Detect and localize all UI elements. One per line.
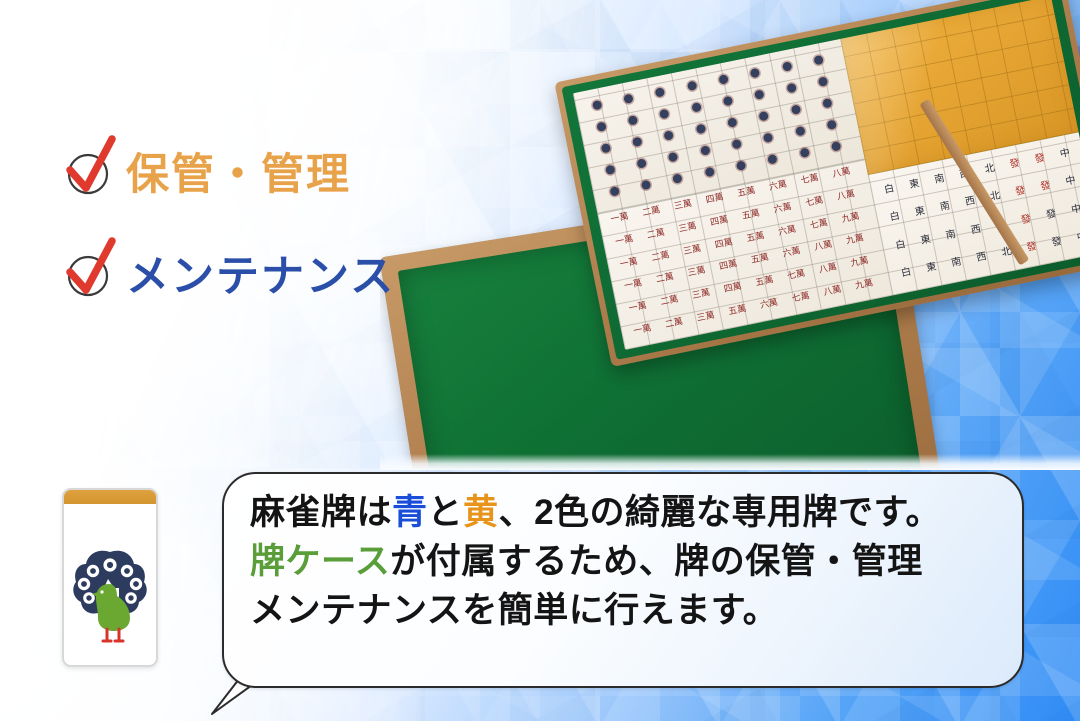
bubble-line-1: 麻雀牌は青と黄、2色の綺麗な専用牌です。 [250, 488, 1002, 537]
bubble-line-2: 牌ケースが付属するため、牌の保管・管理 [250, 537, 1002, 586]
tile-tray: 一萬二萬三萬四萬五萬六萬七萬八萬 一萬二萬三萬四萬五萬六萬七萬八萬 一萬二萬三萬… [573, 0, 1080, 350]
product-photo: 一萬二萬三萬四萬五萬六萬七萬八萬 一萬二萬三萬四萬五萬六萬七萬八萬 一萬二萬三萬… [380, 0, 1080, 470]
banner-stage: 一萬二萬三萬四萬五萬六萬七萬八萬 一萬二萬三萬四萬五萬六萬七萬八萬 一萬二萬三萬… [0, 0, 1080, 721]
peacock-card [62, 488, 158, 667]
mahjong-case-upper: 一萬二萬三萬四萬五萬六萬七萬八萬 一萬二萬三萬四萬五萬六萬七萬八萬 一萬二萬三萬… [554, 0, 1080, 367]
bubble-text-run: と [428, 493, 464, 532]
feature-item-maintenance: メンテナンス [62, 242, 395, 304]
photo-bottom-fade [380, 454, 1080, 470]
bubble-line-3: メンテナンスを簡単に行えます。 [250, 586, 1002, 635]
bubble-text-run: メンテナンスを簡単に行えます。 [250, 591, 778, 630]
check-circle-icon [62, 144, 116, 198]
card-top-band [62, 488, 158, 504]
feature-label-storage: 保管・管理 [126, 140, 351, 202]
peacock-icon [70, 530, 150, 648]
bubble-text-run: 、2色の綺麗な専用牌です。 [499, 493, 941, 532]
speech-bubble-text: 麻雀牌は青と黄、2色の綺麗な専用牌です。 牌ケースが付属するため、牌の保管・管理… [250, 488, 1002, 635]
check-circle-icon [62, 246, 116, 300]
bubble-text-run: 黄 [463, 493, 499, 532]
feature-label-maintenance: メンテナンス [126, 242, 395, 304]
bubble-text-run: 牌ケース [250, 542, 390, 581]
feature-item-storage: 保管・管理 [62, 140, 351, 202]
speech-bubble: 麻雀牌は青と黄、2色の綺麗な専用牌です。 牌ケースが付属するため、牌の保管・管理… [222, 472, 1024, 688]
peacock-eye [100, 590, 103, 593]
bubble-text-run: 麻雀牌は [250, 493, 392, 532]
bubble-text-run: が付属するため、牌の保管・管理 [390, 542, 923, 581]
bubble-text-run: 青 [392, 493, 428, 532]
